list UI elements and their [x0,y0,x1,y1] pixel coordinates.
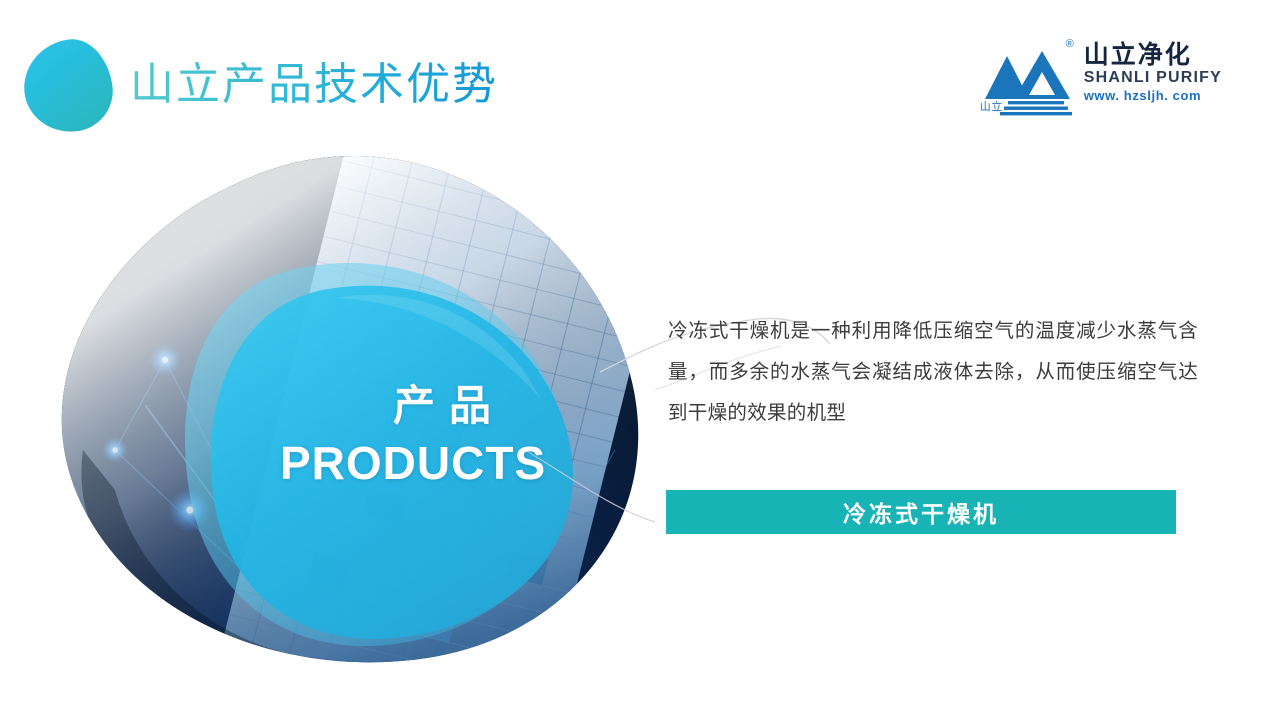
logo-company-name-cn: 山立净化 [1084,42,1222,68]
page-title: 山立产品技术优势 [130,60,498,111]
product-name-banner[interactable]: 冷冻式干燥机 [666,490,1176,534]
brand-logo: ® 山立 山立净化 SHANLI PURIFY www. hzsljh. com [980,38,1222,116]
logo-mark-label: 山立 [980,98,1003,114]
logo-mountain-icon: ® 山立 [980,38,1076,116]
slide-canvas: 山立产品技术优势 ® 山立 山立净化 SHANLI PURIFY www. hz… [0,0,1280,720]
product-artwork: 产品 PRODUCTS [55,150,655,670]
product-name-banner-label: 冷冻式干燥机 [843,495,999,529]
logo-company-name-en: SHANLI PURIFY [1084,68,1222,88]
logo-website-url: www. hzsljh. com [1084,88,1222,104]
header-decorative-blob-icon [18,34,118,137]
registered-trademark-icon: ® [1066,38,1074,50]
artwork-graphic-icon [55,150,655,670]
product-description: 冷冻式干燥机是一种利用降低压缩空气的温度减少水蒸气含量，而多余的水蒸气会凝结成液… [668,310,1198,433]
logo-text-block: 山立净化 SHANLI PURIFY www. hzsljh. com [1084,38,1222,105]
